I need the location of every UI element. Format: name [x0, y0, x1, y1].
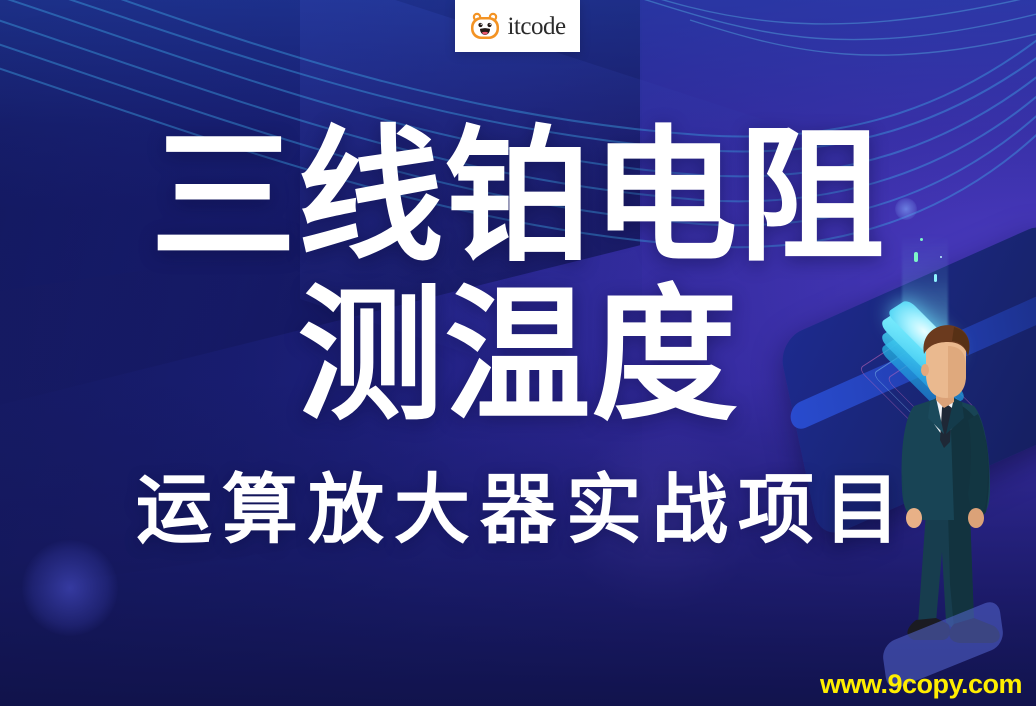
headline-line-2: 测温度	[0, 283, 1036, 429]
promo-banner: itcode 三线铂电阻 测温度 运算放大器实战项目 www.9copy.com	[0, 0, 1036, 706]
subtitle: 运算放大器实战项目	[0, 473, 1036, 549]
itcode-logo[interactable]: itcode	[455, 0, 580, 52]
headline-line-1: 三线铂电阻	[0, 124, 1036, 270]
site-watermark: www.9copy.com	[820, 669, 1022, 700]
itcode-hamster-mascot-icon	[469, 11, 501, 41]
itcode-logo-text: itcode	[507, 14, 565, 39]
